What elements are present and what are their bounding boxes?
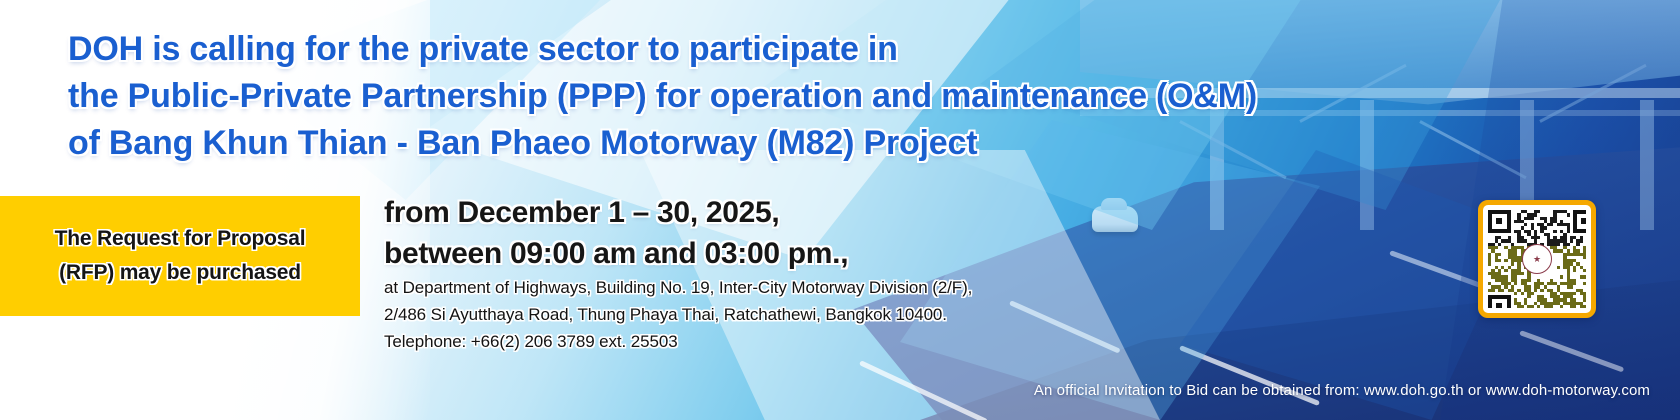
time-range: between 09:00 am and 03:00 pm., (384, 233, 1084, 274)
footer-note: An official Invitation to Bid can be obt… (1034, 382, 1650, 399)
rfp-callout-box: The Request for Proposal (RFP) may be pu… (0, 196, 360, 316)
headline-line-1: DOH is calling for the private sector to… (68, 26, 1628, 73)
date-range: from December 1 – 30, 2025, (384, 192, 1084, 233)
headline-line-3: of Bang Khun Thian - Ban Phaeo Motorway … (68, 120, 1628, 167)
rfp-line-1: The Request for Proposal (55, 224, 306, 254)
headline-line-2: the Public-Private Partnership (PPP) for… (68, 73, 1628, 120)
headline: DOH is calling for the private sector to… (68, 26, 1628, 167)
white-car (1092, 206, 1138, 232)
bridge-pillar (1640, 100, 1654, 230)
address-line-2: 2/486 Si Ayutthaya Road, Thung Phaya Tha… (384, 301, 1144, 328)
doh-emblem-icon: ★ (1522, 244, 1552, 274)
doh-ppp-announcement-banner: DOH is calling for the private sector to… (0, 0, 1680, 420)
rfp-line-2: (RFP) may be purchased (59, 258, 301, 288)
address-line-1: at Department of Highways, Building No. … (384, 274, 1144, 301)
address-block: at Department of Highways, Building No. … (384, 274, 1144, 355)
date-time-block: from December 1 – 30, 2025, between 09:0… (384, 192, 1084, 274)
qr-code-matrix: ★ (1488, 210, 1586, 308)
telephone-line: Telephone: +66(2) 206 3789 ext. 25503 (384, 328, 1144, 355)
qr-code[interactable]: ★ (1478, 200, 1596, 318)
